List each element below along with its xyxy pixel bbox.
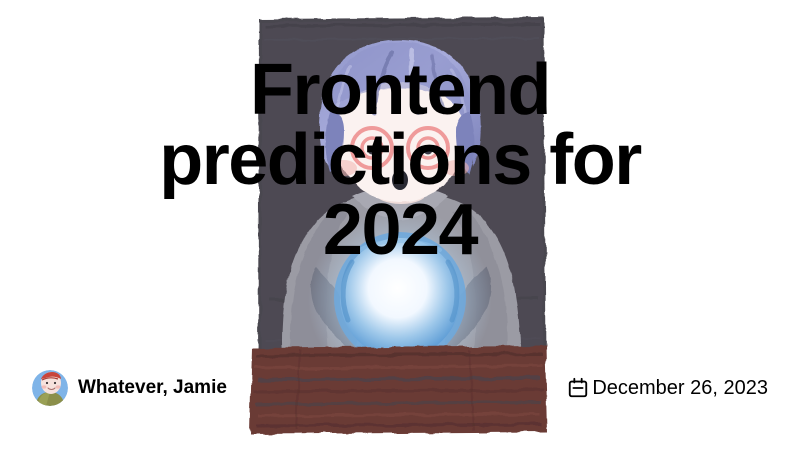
date-group: December 26, 2023 bbox=[567, 377, 768, 400]
author-avatar bbox=[32, 370, 68, 406]
date-text: December 26, 2023 bbox=[592, 377, 768, 400]
calendar-icon bbox=[567, 377, 589, 399]
slide-title: Frontend predictions for 2024 bbox=[0, 56, 800, 265]
author-byline: Whatever, Jamie bbox=[32, 370, 227, 406]
slide-canvas: Frontend predictions for 2024 bbox=[0, 0, 800, 450]
title-line-1: Frontend bbox=[0, 56, 800, 126]
author-name: Whatever, Jamie bbox=[78, 377, 227, 399]
title-line-3: 2024 bbox=[0, 196, 800, 266]
slide-footer: Whatever, Jamie December 26, 2023 bbox=[0, 370, 800, 406]
title-line-2: predictions for bbox=[0, 126, 800, 196]
